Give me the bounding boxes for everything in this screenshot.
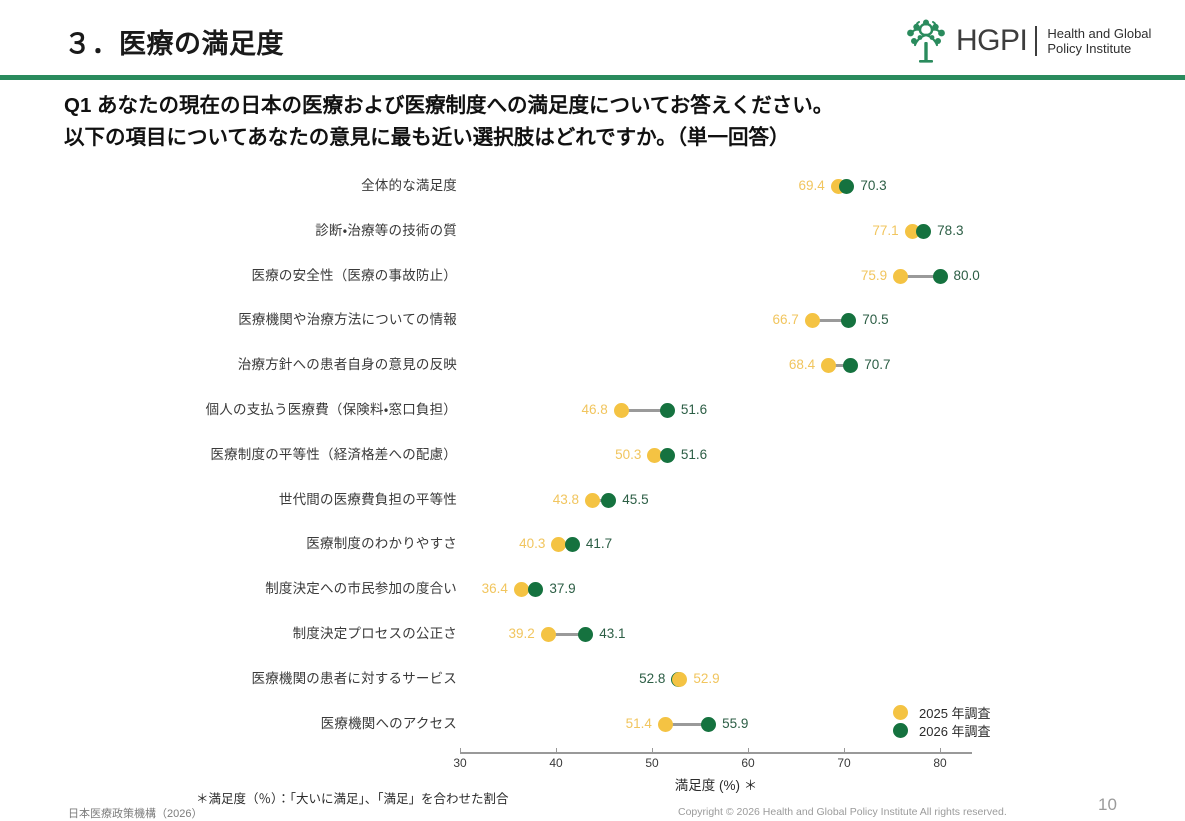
x-axis-tick — [652, 748, 653, 753]
hgpi-logo: HGPI Health and Global Policy Institute — [903, 18, 1151, 64]
tree-icon — [903, 18, 949, 64]
footer-copyright: Copyright © 2026 Health and Global Polic… — [678, 806, 1007, 818]
value-label-2026: 51.6 — [681, 440, 707, 470]
chart-row: 世代間の医療費負担の平等性43.845.5 — [0, 485, 1185, 515]
value-label-2025: 68.4 — [785, 350, 815, 380]
row-category-label: 制度決定への市民参加の度合い — [265, 574, 457, 604]
footnote-source: 日本医療政策機構（2026） — [68, 805, 202, 821]
logo-name-line-2: Policy Institute — [1047, 41, 1151, 56]
row-category-label: 世代間の医療費負担の平等性 — [279, 485, 457, 515]
x-axis-tick-label: 80 — [933, 756, 946, 770]
legend-item[interactable]: 2025 年調査 — [893, 703, 991, 721]
value-label-2025: 36.4 — [478, 574, 508, 604]
chart-row: 医療機関へのアクセス51.455.9 — [0, 709, 1185, 739]
row-category-label: 医療機関の患者に対するサービス — [252, 664, 458, 694]
value-label-2025: 52.9 — [693, 664, 719, 694]
legend-swatch-icon — [893, 705, 908, 720]
logo-full-name: Health and Global Policy Institute — [1047, 26, 1151, 56]
page-number: 10 — [1098, 795, 1117, 815]
value-label-2026: 70.3 — [860, 171, 886, 201]
value-label-2026: 80.0 — [954, 261, 980, 291]
data-point-2026 — [660, 448, 675, 463]
header-divider-rule — [0, 75, 1185, 80]
x-axis-tick-label: 30 — [453, 756, 466, 770]
value-label-2025: 40.3 — [515, 529, 545, 559]
chart-legend: 2025 年調査2026 年調査 — [893, 703, 991, 739]
value-label-2026: 78.3 — [937, 216, 963, 246]
chart-row: 医療機関の患者に対するサービス52.852.9 — [0, 664, 1185, 694]
chart-row: 医療の安全性（医療の事故防止）75.980.0 — [0, 261, 1185, 291]
x-axis-tick — [940, 748, 941, 753]
data-point-2026 — [601, 493, 616, 508]
legend-label: 2026 年調査 — [919, 721, 991, 740]
value-label-2026: 41.7 — [586, 529, 612, 559]
row-category-label: 医療制度のわかりやすさ — [306, 529, 457, 559]
value-label-2026: 51.6 — [681, 395, 707, 425]
value-label-2025: 66.7 — [769, 305, 799, 335]
value-label-2025: 51.4 — [622, 709, 652, 739]
x-axis-tick-label: 60 — [741, 756, 754, 770]
chart-row: 個人の支払う医療費（保険料・窓口負担）46.851.6 — [0, 395, 1185, 425]
footnote-satisfaction: ＊満足度（％）：「大いに満足」、「満足」を合わせた割合 — [196, 788, 509, 807]
value-label-2025: 77.1 — [869, 216, 899, 246]
data-point-2025 — [893, 269, 908, 284]
row-category-label: 医療機関へのアクセス — [321, 709, 457, 739]
value-label-2025: 46.8 — [578, 395, 608, 425]
x-axis-tick-label: 40 — [549, 756, 562, 770]
data-point-2026 — [565, 537, 580, 552]
value-label-2026: 70.7 — [864, 350, 890, 380]
data-point-2025 — [658, 717, 673, 732]
row-category-label: 医療の安全性（医療の事故防止） — [252, 261, 458, 291]
data-point-2026 — [841, 313, 856, 328]
data-point-2025 — [585, 493, 600, 508]
legend-label: 2025 年調査 — [919, 703, 991, 722]
row-category-label: 制度決定プロセスの公正さ — [293, 619, 457, 649]
chart-row: 制度決定への市民参加の度合い36.437.9 — [0, 574, 1185, 604]
row-category-label: 診断・治療等の技術の質 — [315, 216, 457, 246]
logo-acronym: HGPI — [956, 26, 1027, 56]
data-point-2026 — [578, 627, 593, 642]
data-point-2026 — [839, 179, 854, 194]
chart-row: 診断・治療等の技術の質77.178.3 — [0, 216, 1185, 246]
x-axis-title: 満足度 (%) ＊ — [675, 774, 758, 794]
row-category-label: 全体的な満足度 — [361, 171, 457, 201]
data-point-2025 — [672, 672, 687, 687]
value-label-2025: 43.8 — [549, 485, 579, 515]
value-label-2026: 43.1 — [599, 619, 625, 649]
chart-row: 治療方針への患者自身の意見の反映68.470.7 — [0, 350, 1185, 380]
value-label-2026: 52.8 — [635, 664, 665, 694]
logo-name-line-1: Health and Global — [1047, 26, 1151, 41]
data-point-2026 — [660, 403, 675, 418]
x-axis-tick — [460, 748, 461, 753]
row-category-label: 治療方針への患者自身の意見の反映 — [238, 350, 457, 380]
chart-row: 医療制度のわかりやすさ40.341.7 — [0, 529, 1185, 559]
data-point-2026 — [933, 269, 948, 284]
x-axis-line — [460, 752, 972, 754]
data-point-2025 — [541, 627, 556, 642]
row-category-label: 医療制度の平等性（経済格差への配慮） — [210, 440, 457, 470]
chart-row: 医療制度の平等性（経済格差への配慮）50.351.6 — [0, 440, 1185, 470]
value-label-2025: 75.9 — [857, 261, 887, 291]
page-title: ３．医療の満足度 — [64, 22, 284, 61]
question-block: Q1 あなたの現在の日本の医療および医療制度への満足度についてお答えください。 … — [64, 90, 1144, 154]
data-point-2025 — [614, 403, 629, 418]
legend-item[interactable]: 2026 年調査 — [893, 721, 991, 739]
dumbbell-chart: 全体的な満足度69.470.3診断・治療等の技術の質77.178.3医療の安全性… — [0, 160, 1185, 780]
question-line-1: Q1 あなたの現在の日本の医療および医療制度への満足度についてお答えください。 — [64, 90, 1144, 122]
x-axis-tick — [556, 748, 557, 753]
x-axis-tick — [844, 748, 845, 753]
legend-swatch-icon — [893, 723, 908, 738]
value-label-2026: 70.5 — [862, 305, 888, 335]
chart-row: 制度決定プロセスの公正さ39.243.1 — [0, 619, 1185, 649]
x-axis: 満足度 (%) ＊ 304050607080 — [0, 752, 1185, 796]
data-point-2025 — [821, 358, 836, 373]
x-axis-tick-label: 50 — [645, 756, 658, 770]
row-category-label: 医療機関や治療方法についての情報 — [238, 305, 457, 335]
logo-divider — [1035, 26, 1037, 56]
question-line-2: 以下の項目についてあなたの意見に最も近い選択肢はどれですか。（単一回答） — [64, 122, 1144, 154]
data-point-2026 — [701, 717, 716, 732]
row-category-label: 個人の支払う医療費（保険料・窓口負担） — [206, 395, 457, 425]
data-point-2025 — [805, 313, 820, 328]
x-axis-tick-label: 70 — [837, 756, 850, 770]
value-label-2026: 37.9 — [549, 574, 575, 604]
x-axis-tick — [748, 748, 749, 753]
slide-header: ３．医療の満足度 — [0, 0, 1185, 82]
value-label-2025: 50.3 — [611, 440, 641, 470]
data-point-2026 — [916, 224, 931, 239]
value-label-2026: 45.5 — [622, 485, 648, 515]
data-point-2026 — [843, 358, 858, 373]
value-label-2025: 69.4 — [795, 171, 825, 201]
chart-row: 全体的な満足度69.470.3 — [0, 171, 1185, 201]
data-point-2025 — [514, 582, 529, 597]
value-label-2026: 55.9 — [722, 709, 748, 739]
chart-row: 医療機関や治療方法についての情報66.770.5 — [0, 305, 1185, 335]
data-point-2026 — [528, 582, 543, 597]
value-label-2025: 39.2 — [505, 619, 535, 649]
